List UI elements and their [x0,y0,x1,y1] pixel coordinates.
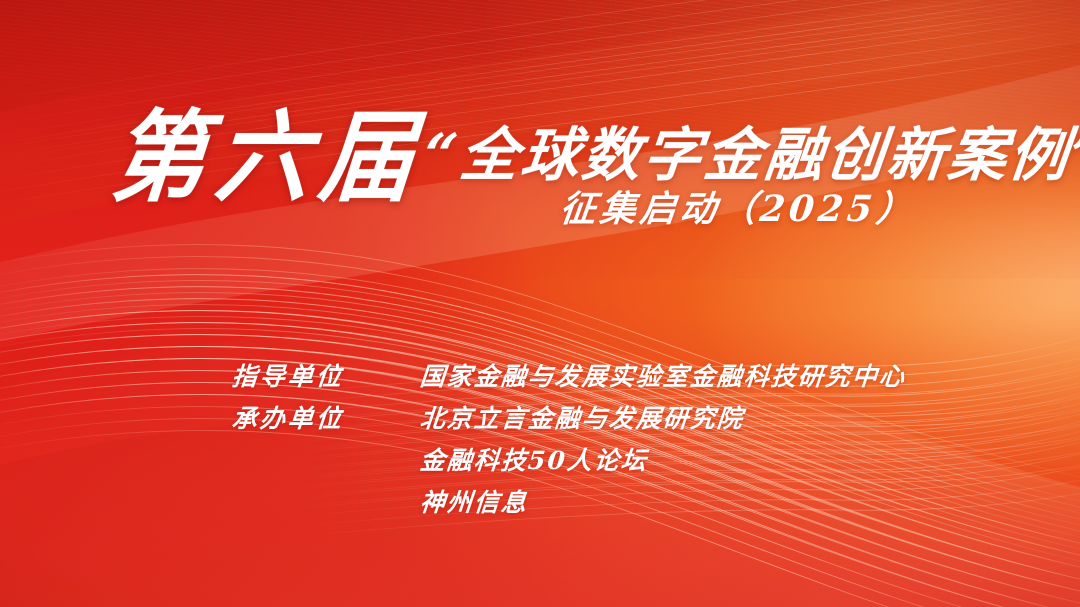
credits-block: 指导单位 国家金融与发展实验室金融科技研究中心 承办单位 北京立言金融与发展研究… [232,358,992,526]
poster-canvas: 第六届 “全球数字金融创新案例” 征集启动（2025） 指导单位 国家金融与发展… [0,0,1080,607]
poster-content: 第六届 “全球数字金融创新案例” 征集启动（2025） 指导单位 国家金融与发展… [0,0,1080,607]
credit-label: 承办单位 [230,400,421,438]
credit-row: 承办单位 北京立言金融与发展研究院 [232,400,992,442]
credit-value: 国家金融与发展实验室金融科技研究中心 [418,358,907,396]
credit-value: 金融科技50人论坛 [418,442,649,480]
page-subtitle: 征集启动（2025） [558,186,919,232]
credit-value: 北京立言金融与发展研究院 [418,400,745,438]
page-title: “全球数字金融创新案例” [420,120,1080,190]
credit-row: 金融科技50人论坛 [232,442,992,484]
headline-row: 第六届 “全球数字金融创新案例” [0,112,1080,216]
credit-label: 指导单位 [230,358,421,396]
credit-row: 神州信息 [232,484,992,526]
edition-ordinal: 第六届 [107,103,429,213]
credit-value: 神州信息 [418,484,529,522]
credit-row: 指导单位 国家金融与发展实验室金融科技研究中心 [232,358,992,400]
